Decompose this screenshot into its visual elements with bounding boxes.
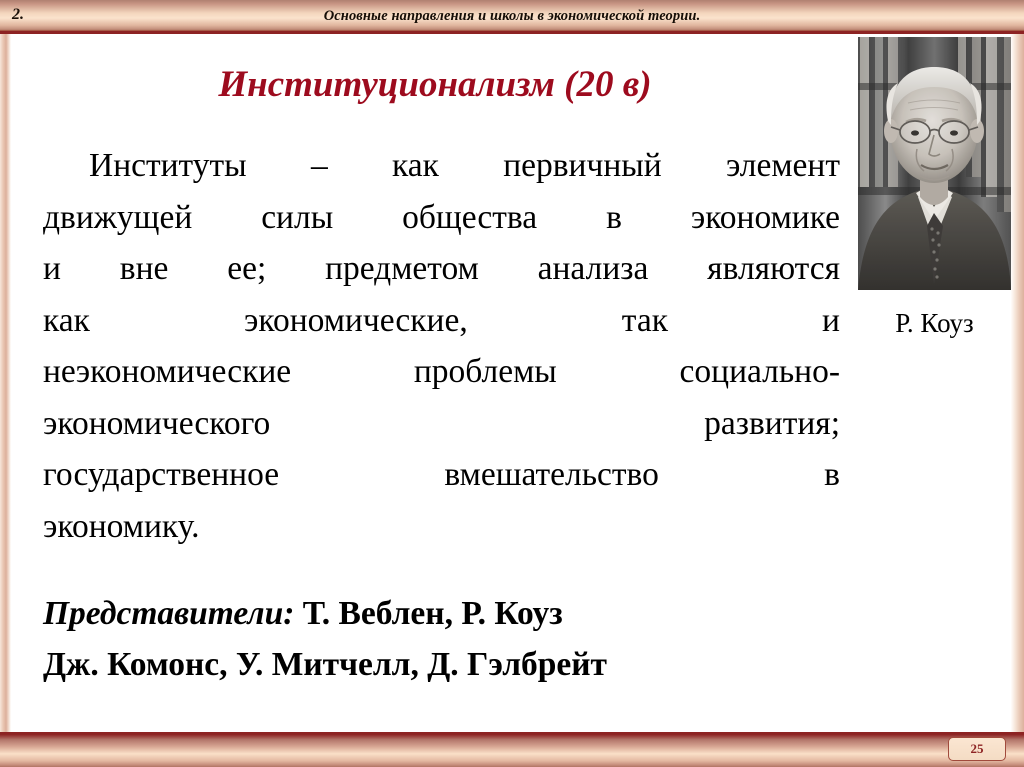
left-edge-decoration [0,34,11,732]
slide-footer-band: 25 [0,732,1024,767]
portrait-photo-graphic [858,37,1011,290]
slide-canvas: 2. Основные направления и школы в эконом… [0,0,1024,767]
page-number-badge: 25 [948,737,1006,761]
header-section-title: Основные направления и школы в экономиче… [0,8,1024,25]
body-line-1-text: Институты – как первичный элемент [89,147,840,184]
slide-body-text: Институты – как первичный элемент движущ… [43,140,840,552]
slide-header-band: 2. Основные направления и школы в эконом… [0,0,1024,34]
representatives-label: Представители: [43,595,294,632]
body-line-2: движущей силы общества в экономике [43,192,840,244]
body-line-4: как экономические, так и [43,295,840,347]
portrait-caption: Р. Коуз [858,308,1011,339]
body-line-7: государственное вмешательство в [43,449,840,501]
portrait-photo [858,37,1011,290]
representatives-line-1: Т. Веблен, Р. Коуз [294,595,562,632]
slide-title: Институционализм (20 в) [20,66,850,105]
body-line-8: экономику. [43,501,840,553]
right-edge-decoration [1011,34,1024,732]
body-line-6: экономического развития; [43,398,840,450]
representatives-block: Представители: Т. Веблен, Р. Коуз Дж. Ко… [43,588,843,690]
body-line-5: неэкономические проблемы социально- [43,346,840,398]
representatives-line-2: Дж. Комонс, У. Митчелл, Д. Гэлбрейт [43,639,843,690]
body-line-3: и вне ее; предметом анализа являются [43,243,840,295]
body-line-1: Институты – как первичный элемент [43,140,840,192]
